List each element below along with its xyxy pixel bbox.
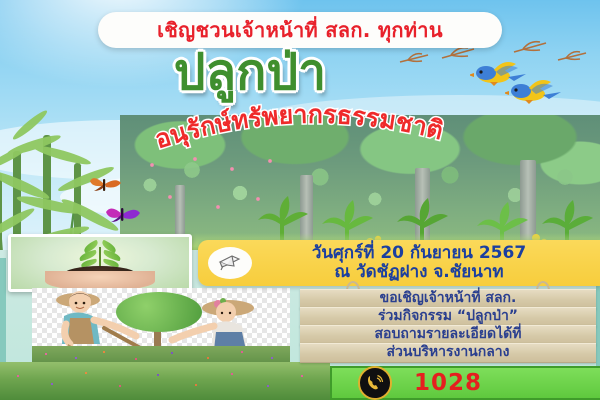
dragonfly-icon (556, 48, 590, 68)
sign-line-4: ส่วนบริหารงานกลาง (386, 344, 509, 362)
dragonfly-icon (398, 50, 432, 70)
sign-text-block: ขอเชิญเจ้าหน้าที่ สลก. ร่วมกิจกรรม “ปลูก… (300, 289, 596, 363)
dragonfly-icon (512, 38, 550, 60)
sign-line-2: ร่วมกิจกรรม “ปลูกป่า” (378, 308, 518, 326)
wooden-sign: ขอเชิญเจ้าหน้าที่ สลก. ร่วมกิจกรรม “ปลูก… (300, 287, 596, 363)
svg-text:อนุรักษ์ทรัพยากรธรรมชาติ: อนุรักษ์ทรัพยากรธรรมชาติ (151, 100, 446, 154)
blue-yellow-bird-icon (505, 78, 563, 112)
arc-subtitle: อนุรักษ์ทรัพยากรธรรมชาติ (95, 96, 505, 176)
orange-butterfly-icon (88, 175, 122, 197)
page-title: ปลูกป่า (110, 44, 390, 100)
date-location-text: วันศุกร์ที่ 20 กันยายน 2567 ณ วัดชัฏฝาง … (260, 244, 578, 282)
bottom-flower-strip (0, 362, 330, 400)
poster-canvas: เชิญชวนเจ้าหน้าที่ สลก. ทุกท่าน ปลูกป่า … (0, 0, 600, 400)
children-planting-tree-photo (32, 288, 290, 366)
phone-icon (358, 366, 392, 400)
arc-subtitle-text: อนุรักษ์ทรัพยากรธรรมชาติ (151, 100, 446, 154)
purple-butterfly-icon (104, 203, 142, 227)
hands-holding-seedling-photo (8, 234, 192, 292)
date-line: วันศุกร์ที่ 20 กันยายน 2567 (260, 244, 578, 263)
phone-contact-bar: 1028 (330, 366, 600, 400)
sign-line-3: สอบถามรายละเอียดได้ที่ (375, 326, 522, 344)
megaphone-icon (208, 247, 252, 279)
phone-number: 1028 (414, 370, 482, 396)
location-line: ณ วัดชัฏฝาง จ.ชัยนาท (260, 263, 578, 282)
sign-line-1: ขอเชิญเจ้าหน้าที่ สลก. (380, 290, 517, 308)
date-location-bar: วันศุกร์ที่ 20 กันยายน 2567 ณ วัดชัฏฝาง … (198, 240, 600, 286)
